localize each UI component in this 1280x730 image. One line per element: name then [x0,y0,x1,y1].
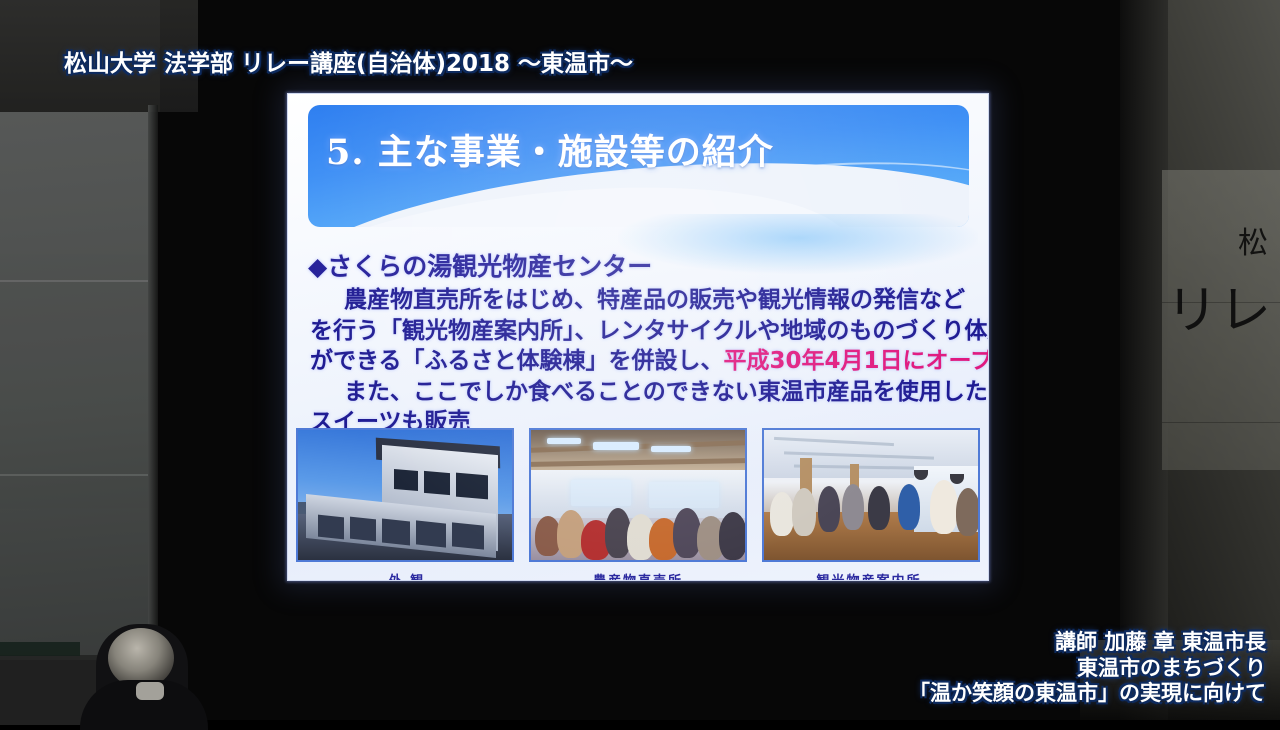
left-wall-whiteboard [0,112,148,660]
banner-wave-glow [618,214,978,274]
right-poster-text-line2: リレ [1166,268,1272,343]
left-wall-trim [0,642,80,656]
body-line-1: 農産物直売所をはじめ、特産品の販売や観光情報の発信など [310,285,970,316]
slide-body-text: 農産物直売所をはじめ、特産品の販売や観光情報の発信など を行う「観光物産案内所」… [310,285,970,438]
projected-presentation-slide: 5. 主な事業・施設等の紹介 ◆さくらの湯観光物産センター 農産物直売所をはじめ… [287,93,989,581]
photo-caption-2: 農産物直売所 [527,570,749,581]
photo-exterior-building [296,428,514,562]
photo-tourist-information-center [762,428,980,562]
slide-title: 5. 主な事業・施設等の紹介 [326,124,774,175]
slide-section-heading: ◆さくらの湯観光物産センター [308,247,652,283]
audience-member-silhouette [96,624,188,720]
body-line-3-prefix: ができる「ふるさと体験棟」を併設し、 [310,348,724,374]
slide-photo-captions: 外 観 農産物直売所 観光物産案内所 [296,570,980,581]
lecturer-name-line: 講師 加藤 章 東温市長 [909,630,1266,655]
body-line-3-highlight: 平成30年4月1日にオープン [724,348,989,374]
slide-photo-row [296,428,980,568]
left-wall-edge [148,105,158,665]
photo-caption-3: 観光物産案内所 [758,570,980,581]
photo-caption-1: 外 観 [296,570,518,581]
right-poster-text-line1: 松 [1238,218,1270,262]
broadcast-lower-third: 講師 加藤 章 東温市長 東温市のまちづくり 「温か笑顔の東温市」の実現に向けて [909,630,1266,706]
photo-farm-produce-market [529,428,747,562]
lecture-subtitle-line: 「温か笑顔の東温市」の実現に向けて [909,681,1266,706]
lecture-topic-line: 東温市のまちづくり [909,656,1266,681]
right-wall-shadow [1120,0,1168,720]
broadcast-title-overlay: 松山大学 法学部 リレー講座(自治体)2018 〜東温市〜 [64,44,633,78]
body-line-4: また、ここでしか食べることのできない東温市産品を使用した [310,377,970,408]
body-line-2: を行う「観光物産案内所」、レンタサイクルや地域のものづくり体験 [310,316,970,347]
body-line-3: ができる「ふるさと体験棟」を併設し、平成30年4月1日にオープン [310,346,970,377]
